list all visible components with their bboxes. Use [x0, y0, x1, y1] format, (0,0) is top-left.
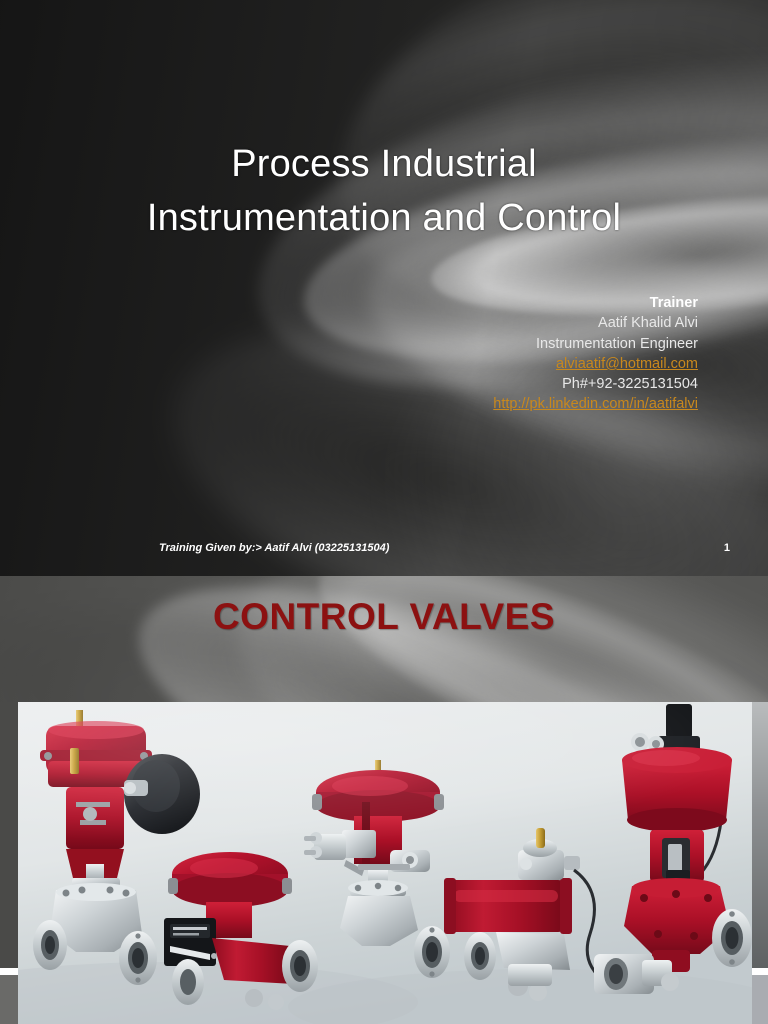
- footer-credit: Training Given by:> Aatif Alvi (03225131…: [159, 542, 389, 554]
- title-line-1: Process Industrial: [0, 138, 768, 190]
- section-title: CONTROL VALVES: [0, 596, 768, 638]
- page-break-left: [0, 968, 18, 975]
- slide-vignette: [0, 0, 768, 576]
- trainer-designation: Instrumentation Engineer: [493, 334, 698, 354]
- page-break-right: [752, 968, 768, 975]
- trainer-role-label: Trainer: [493, 293, 698, 313]
- control-valves-illustration: [18, 702, 752, 1024]
- trainer-phone: Ph#+92-3225131504: [493, 374, 698, 394]
- slide-footer: Training Given by:> Aatif Alvi (03225131…: [0, 542, 768, 564]
- valve-6: [594, 954, 679, 994]
- presentation-page: Process Industrial Instrumentation and C…: [0, 0, 768, 1024]
- trainer-name: Aatif Khalid Alvi: [493, 313, 698, 333]
- page-margin-right: [752, 702, 768, 968]
- page-title: Process Industrial Instrumentation and C…: [0, 138, 768, 244]
- footer-page-number: 1: [724, 542, 730, 554]
- page-margin-left: [0, 702, 18, 968]
- control-valves-photo: [18, 702, 752, 1024]
- page-margin-left-lower: [0, 975, 18, 1024]
- trainer-linkedin-link[interactable]: http://pk.linkedin.com/in/aatifalvi: [493, 394, 698, 414]
- slide-title: Process Industrial Instrumentation and C…: [0, 0, 768, 576]
- trainer-email-link[interactable]: alviaatif@hotmail.com: [493, 354, 698, 374]
- trainer-contact-block: Trainer Aatif Khalid Alvi Instrumentatio…: [493, 293, 698, 415]
- title-line-2: Instrumentation and Control: [0, 192, 768, 244]
- page-margin-right-lower: [752, 975, 768, 1024]
